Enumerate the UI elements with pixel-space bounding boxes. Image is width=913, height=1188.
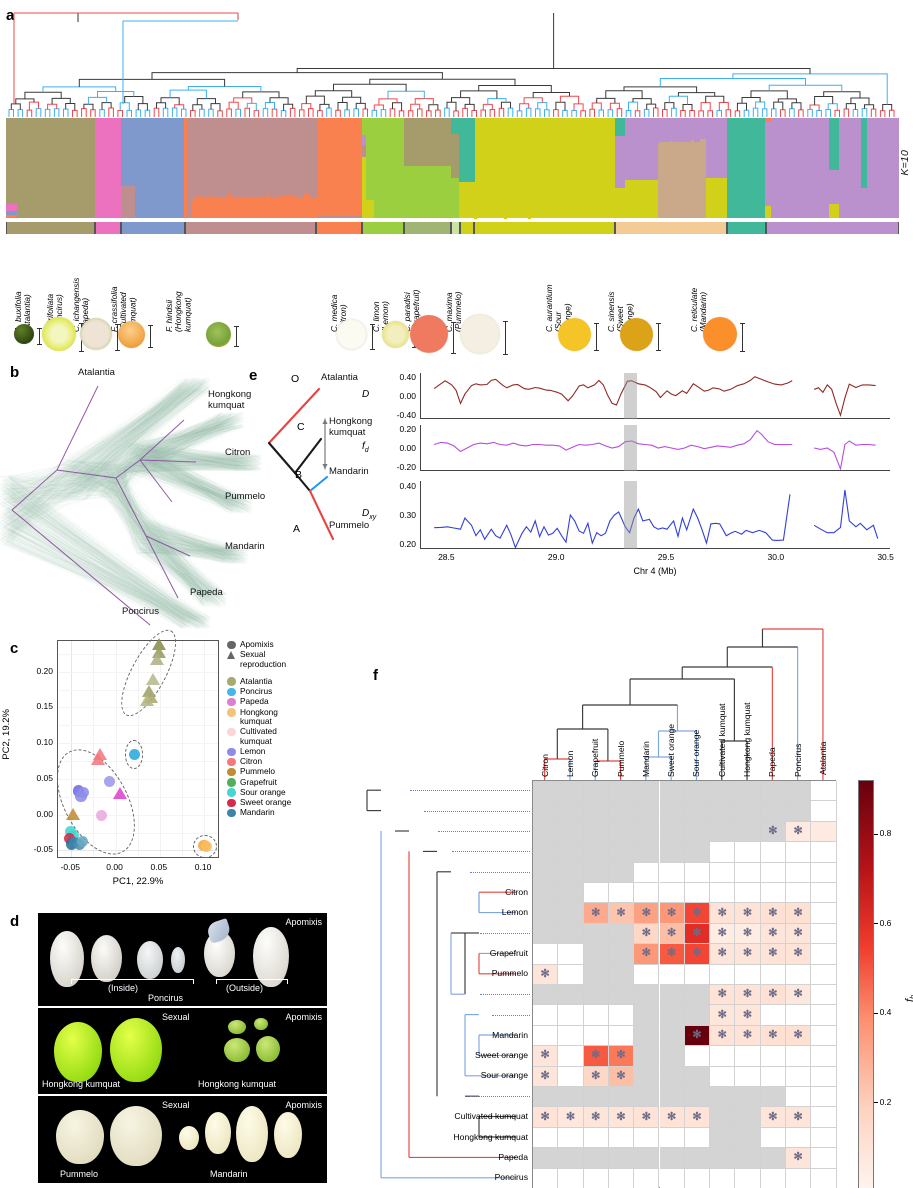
fruit-photo <box>410 315 448 353</box>
structure-segment <box>193 118 318 197</box>
heatmap-cell <box>660 883 685 903</box>
legend-label: Cultivated kumquat <box>240 727 277 746</box>
heatmap-cell <box>634 1046 659 1066</box>
c-gridline-v-minor <box>182 641 183 857</box>
heatmap-cell <box>761 801 786 821</box>
heatmap-cell <box>660 965 685 985</box>
structure-segment <box>121 118 135 186</box>
heatmap-cell <box>558 781 583 801</box>
heatmap-cell <box>761 883 786 903</box>
heatmap-cell-significant: ✻ <box>735 903 760 923</box>
heatmap-cell <box>710 781 735 801</box>
legend-row-color: Lemon <box>226 747 344 757</box>
heatmap-cell <box>710 801 735 821</box>
heatmap-cell <box>609 1169 634 1188</box>
heatmap-cell <box>533 842 558 862</box>
fruit-photo <box>620 318 653 351</box>
seed <box>171 947 185 973</box>
legend-circle-marker <box>227 748 236 757</box>
panel-c-xtick: 0.00 <box>99 862 131 872</box>
heatmap-cell <box>558 1067 583 1087</box>
heatmap-cell <box>710 1087 735 1107</box>
heatmap-cell <box>710 1148 735 1168</box>
panel-a: a K=10 A. buxifolia (Atalantia)P. trifol… <box>0 0 913 360</box>
heatmap-cell <box>634 1087 659 1107</box>
fruit-photo <box>558 318 591 351</box>
legend-circle-marker <box>227 708 236 717</box>
structure-segment <box>705 178 727 218</box>
heatmap-cell-significant: ✻ <box>786 1148 811 1168</box>
heatmap-cell <box>761 1005 786 1025</box>
panel-f-row-label: Mandarin <box>410 1030 528 1040</box>
scale-bar <box>150 325 151 348</box>
legend-swatch <box>226 677 237 686</box>
species-label: A. buxifolia (Atalantia) <box>14 244 32 332</box>
heatmap-cell <box>533 822 558 842</box>
heatmap-cell <box>786 842 811 862</box>
panel-e-xtick: 30.0 <box>764 552 788 562</box>
structure-noise <box>489 213 492 219</box>
population-band <box>185 222 316 234</box>
heatmap-cell <box>685 1067 710 1087</box>
heatmap-cell <box>558 883 583 903</box>
heatmap-cell-significant: ✻ <box>735 944 760 964</box>
pca-point-circle <box>77 836 88 847</box>
heatmap-cell <box>660 1169 685 1188</box>
heatmap-cell <box>710 842 735 862</box>
heatmap-cell <box>533 944 558 964</box>
heatmap-cell <box>558 944 583 964</box>
heatmap-cell <box>685 883 710 903</box>
heatmap-cell-significant: ✻ <box>533 1067 558 1087</box>
fruit-photo <box>80 318 112 350</box>
fruit-photo <box>703 317 737 351</box>
panel-f-colorbar-title: fb <box>904 970 913 1002</box>
panel-d-photo-box: SexualApomixisHongkong kumquatHongkong k… <box>38 1008 327 1094</box>
legend-label: Pummelo <box>240 767 275 777</box>
panel-f-row-label: Hongkong kumquat <box>410 1132 528 1142</box>
pca-point-circle <box>75 791 86 802</box>
row-connector <box>424 811 530 812</box>
heatmap-cell-significant: ✻ <box>634 944 659 964</box>
heatmap-cell <box>710 883 735 903</box>
heatmap-cell <box>685 781 710 801</box>
heatmap-cell <box>710 965 735 985</box>
legend-circle-marker <box>227 641 236 650</box>
fruit-photo <box>382 321 409 348</box>
heatmap-cell <box>811 965 836 985</box>
legend-label: Poncirus <box>240 687 272 697</box>
seed-cream <box>110 1106 162 1166</box>
heatmap-cell <box>558 822 583 842</box>
heatmap-cell-significant: ✻ <box>634 903 659 923</box>
heatmap-cell-significant: ✻ <box>735 1005 760 1025</box>
pca-point-circle <box>129 749 140 760</box>
heatmap-cell-significant: ✻ <box>685 903 710 923</box>
structure-segment <box>771 118 829 218</box>
heatmap-cell <box>558 863 583 883</box>
heatmap-cell <box>660 1005 685 1025</box>
panel-d-caption-inside: (Inside) <box>108 983 138 993</box>
panel-c-xtick: 0.05 <box>143 862 175 872</box>
heatmap-cell-significant: ✻ <box>761 944 786 964</box>
track-ytick: -0.40 <box>382 410 416 420</box>
heatmap-cell <box>634 863 659 883</box>
panel-e-tip-label: Pummelo <box>329 521 369 532</box>
heatmap-cell <box>761 863 786 883</box>
heatmap-cell <box>811 1087 836 1107</box>
heatmap-cell <box>584 944 609 964</box>
track-1 <box>420 425 890 471</box>
seed-green-small <box>256 1036 280 1062</box>
panel-f: f CitronLemonGrapefruitPummeloMandarinSw… <box>345 605 913 1188</box>
inside-brace <box>71 979 194 980</box>
structure-noise <box>573 216 576 218</box>
panel-c-xtick: -0.05 <box>54 862 86 872</box>
heatmap-cell-significant: ✻ <box>735 1026 760 1046</box>
track-ytick: 0.00 <box>382 391 416 401</box>
panel-f-heatmap: ✻✻✻✻✻✻✻✻✻✻✻✻✻✻✻✻✻✻✻✻✻✻✻✻✻✻✻✻✻✻✻✻✻✻✻✻✻✻✻✻… <box>532 780 836 1188</box>
panel-d-caption-mandarin: Mandarin <box>210 1169 248 1179</box>
panel-b-tip-label: Poncirus <box>122 607 159 618</box>
legend-row-shape: Apomixis <box>226 640 344 650</box>
track-2 <box>420 481 890 549</box>
pca-point-triangle <box>146 673 160 685</box>
highlight-band <box>624 425 637 471</box>
heatmap-cell <box>811 1169 836 1188</box>
scale-bar <box>596 323 597 351</box>
structure-column <box>404 118 451 218</box>
scale-bar <box>39 328 40 345</box>
legend-label: Mandarin <box>240 808 275 818</box>
figure-root: a K=10 A. buxifolia (Atalantia)P. trifol… <box>0 0 913 1188</box>
highlight-band <box>624 373 637 419</box>
legend-row-shape: Sexual reproduction <box>226 650 344 669</box>
seed-green <box>110 1018 162 1082</box>
fruit-photo <box>42 317 76 351</box>
heatmap-cell <box>735 1107 760 1127</box>
structure-column <box>135 118 184 218</box>
heatmap-cell <box>685 985 710 1005</box>
heatmap-cell <box>584 1087 609 1107</box>
heatmap-cell <box>533 883 558 903</box>
heatmap-cell <box>811 822 836 842</box>
legend-label: Citron <box>240 757 262 767</box>
panel-e-tip-label: Hongkong kumquat <box>329 417 372 438</box>
panel-c: c -0.050.000.050.10-0.050.000.050.100.15… <box>0 622 345 907</box>
heatmap-cell-significant: ✻ <box>660 944 685 964</box>
panel-f-row-label: Lemon <box>410 907 528 917</box>
structure-segment <box>374 118 404 218</box>
structure-segment <box>404 166 451 218</box>
panel-d-photo-box: Apomixis(Inside)(Outside)Poncirus <box>38 913 327 1006</box>
seed-cream-small <box>205 1112 231 1154</box>
population-band <box>95 222 121 234</box>
panel-e-xtick: 30.5 <box>874 552 898 562</box>
heatmap-cell <box>660 842 685 862</box>
heatmap-cell <box>685 1128 710 1148</box>
structure-segment <box>459 182 475 218</box>
structure-column <box>727 118 765 218</box>
structure-column <box>17 118 95 218</box>
legend-label: Lemon <box>240 747 265 757</box>
legend-row-color: Sweet orange <box>226 798 344 808</box>
legend-circle-marker <box>227 677 236 686</box>
heatmap-cell <box>735 842 760 862</box>
panel-c-ytick: 0.00 <box>23 809 53 819</box>
heatmap-cell-significant: ✻ <box>786 822 811 842</box>
pca-point-triangle <box>113 787 127 799</box>
track-ytick: 0.40 <box>382 372 416 382</box>
track-ylabel: D <box>362 389 369 400</box>
heatmap-cell <box>609 801 634 821</box>
structure-segment <box>6 118 17 204</box>
structure-segment <box>318 118 362 215</box>
structure-noise <box>597 215 600 218</box>
heatmap-cell <box>710 1169 735 1188</box>
heatmap-cell <box>786 883 811 903</box>
heatmap-cell <box>811 1128 836 1148</box>
heatmap-cell <box>761 1128 786 1148</box>
structure-noise <box>498 217 501 218</box>
legend-swatch <box>226 778 237 787</box>
heatmap-cell <box>609 1128 634 1148</box>
heatmap-cell <box>558 1087 583 1107</box>
heatmap-cell <box>533 1087 558 1107</box>
heatmap-cell <box>584 1169 609 1188</box>
colorbar-tick: 0.8 <box>880 828 892 838</box>
track-ytick: 0.30 <box>382 510 416 520</box>
structure-noise <box>555 212 558 218</box>
heatmap-cell <box>811 842 836 862</box>
panel-f-row-label: Poncirus <box>410 1172 528 1182</box>
row-connector <box>492 1015 530 1016</box>
panel-f-row-dendrogram <box>353 770 513 1188</box>
heatmap-cell <box>584 1148 609 1168</box>
heatmap-cell <box>811 1046 836 1066</box>
scale-bar <box>372 324 373 350</box>
heatmap-cell <box>786 1087 811 1107</box>
structure-segment <box>404 118 451 166</box>
heatmap-cell <box>710 863 735 883</box>
legend-row-color: Mandarin <box>226 808 344 818</box>
heatmap-cell <box>533 1169 558 1188</box>
heatmap-cell-significant: ✻ <box>761 1107 786 1127</box>
panel-e-xtick: 29.5 <box>654 552 678 562</box>
heatmap-cell <box>609 863 634 883</box>
heatmap-cell <box>811 1005 836 1025</box>
heatmap-cell <box>735 801 760 821</box>
structure-column <box>121 118 135 218</box>
legend-row-color: Citron <box>226 757 344 767</box>
population-band <box>727 222 766 234</box>
seed-green-small <box>224 1038 250 1062</box>
heatmap-cell <box>735 781 760 801</box>
heatmap-cell <box>811 985 836 1005</box>
heatmap-cell <box>533 985 558 1005</box>
species-label: C. limon (Lemon) <box>372 244 390 332</box>
heatmap-cell-significant: ✻ <box>634 924 659 944</box>
seed-cream <box>56 1110 104 1164</box>
row-connector <box>438 831 530 832</box>
heatmap-cell <box>710 1046 735 1066</box>
heatmap-cell-significant: ✻ <box>786 944 811 964</box>
fruit-photo <box>336 319 367 350</box>
structure-column <box>615 118 625 218</box>
heatmap-cell <box>609 1026 634 1046</box>
population-band <box>460 222 474 234</box>
heatmap-cell-significant: ✻ <box>609 1107 634 1127</box>
colorbar-tick: 0.2 <box>880 1097 892 1107</box>
panel-d-caption-hk-apomixis: Hongkong kumquat <box>198 1079 276 1089</box>
heatmap-cell-significant: ✻ <box>584 1046 609 1066</box>
heatmap-cell <box>811 863 836 883</box>
legend-row-color: Cultivated kumquat <box>226 727 344 746</box>
heatmap-cell <box>634 1148 659 1168</box>
structure-noise <box>528 218 531 219</box>
heatmap-cell-significant: ✻ <box>533 1107 558 1127</box>
pca-point-triangle <box>91 753 105 765</box>
heatmap-cell <box>811 944 836 964</box>
heatmap-cell-significant: ✻ <box>660 1107 685 1127</box>
heatmap-cell <box>634 965 659 985</box>
panel-d-photo-box: SexualApomixisPummeloMandarin <box>38 1096 327 1183</box>
structure-segment <box>829 204 839 218</box>
panel-f-column-label: Mandarin <box>641 713 651 777</box>
panel-f-row-label: Cultivated kumquat <box>410 1111 528 1121</box>
heatmap-cell <box>634 842 659 862</box>
heatmap-cell <box>660 1087 685 1107</box>
panel-f-row-label: Papeda <box>410 1152 528 1162</box>
heatmap-cell-significant: ✻ <box>710 985 735 1005</box>
species-label: F. hindsii (Hongkong kumquat) <box>165 244 193 332</box>
panel-e-node-label: B <box>295 469 302 481</box>
panel-e-node-label: A <box>293 523 300 535</box>
legend-swatch <box>226 808 237 817</box>
heatmap-cell <box>609 822 634 842</box>
seed-cream-small <box>236 1106 268 1162</box>
fruit-photo <box>118 321 145 348</box>
legend-label: Atalantia <box>240 677 272 687</box>
heatmap-cell <box>533 863 558 883</box>
panel-d-caption-poncirus: Poncirus <box>148 993 183 1003</box>
structure-noise <box>315 200 318 218</box>
panel-f-column-label: Poncirus <box>793 713 803 777</box>
heatmap-cell <box>786 1128 811 1148</box>
heatmap-cell <box>609 985 634 1005</box>
panel-d-caption-outside: (Outside) <box>226 983 263 993</box>
structure-segment <box>839 118 861 218</box>
panel-c-scatter-area <box>57 640 219 858</box>
seed-cream-small <box>274 1112 302 1158</box>
panel-c-xtitle: PC1, 22.9% <box>57 876 219 887</box>
row-connector <box>480 933 530 934</box>
structure-segment <box>659 118 705 142</box>
legend-circle-marker <box>227 728 236 737</box>
heatmap-cell <box>735 883 760 903</box>
structure-segment <box>95 118 121 218</box>
legend-circle-marker <box>227 799 236 808</box>
structure-noise <box>522 215 525 218</box>
track-ytick: 0.40 <box>382 481 416 491</box>
structure-segment <box>615 188 625 218</box>
structure-column <box>839 118 861 218</box>
panel-d-caption-sexual: Sexual <box>162 1012 190 1022</box>
heatmap-cell <box>786 1169 811 1188</box>
heatmap-cell <box>710 1067 735 1087</box>
row-connector <box>452 851 530 852</box>
heatmap-cell <box>584 842 609 862</box>
structure-noise <box>537 217 540 218</box>
population-band <box>766 222 899 234</box>
heatmap-cell <box>685 1005 710 1025</box>
heatmap-cell <box>558 1128 583 1148</box>
heatmap-cell-significant: ✻ <box>685 1107 710 1127</box>
population-band <box>615 222 727 234</box>
legend-label: Sweet orange <box>240 798 291 808</box>
heatmap-cell <box>584 1128 609 1148</box>
colorbar-tickmark <box>874 923 878 924</box>
panel-f-letter: f <box>373 667 378 684</box>
heatmap-cell <box>558 1026 583 1046</box>
heatmap-cell <box>786 965 811 985</box>
panel-a-structure-plot <box>6 118 899 218</box>
panel-f-row-label: Sweet orange <box>410 1050 528 1060</box>
panel-c-ytick: -0.05 <box>23 844 53 854</box>
structure-segment <box>17 118 95 218</box>
legend-row-color: Pummelo <box>226 767 344 777</box>
heatmap-cell <box>660 1067 685 1087</box>
species-label: C. reticulate (Mandarin) <box>690 244 708 332</box>
outside-brace <box>216 979 288 980</box>
track-ytick: 0.20 <box>382 539 416 549</box>
heatmap-cell <box>786 863 811 883</box>
panel-e-xtick: 29.0 <box>544 552 568 562</box>
heatmap-cell <box>558 1148 583 1168</box>
heatmap-cell <box>634 781 659 801</box>
heatmap-cell-significant: ✻ <box>660 924 685 944</box>
heatmap-cell <box>761 842 786 862</box>
legend-swatch <box>226 747 237 756</box>
heatmap-cell <box>761 965 786 985</box>
heatmap-cell <box>558 1169 583 1188</box>
panel-d-caption-apomixis: Apomixis <box>285 1100 322 1110</box>
heatmap-cell <box>735 822 760 842</box>
scale-bar <box>236 326 237 347</box>
heatmap-cell <box>761 1046 786 1066</box>
c-gridline-v-minor <box>204 641 205 857</box>
structure-column <box>95 118 121 218</box>
track-line-1 <box>421 425 891 471</box>
panel-c-xtick: 0.10 <box>187 862 219 872</box>
heatmap-cell <box>685 1148 710 1168</box>
legend-swatch <box>226 757 237 766</box>
panel-c-legend: ApomixisSexual reproductionAtalantiaPonc… <box>226 640 344 818</box>
heatmap-cell <box>710 1128 735 1148</box>
heatmap-cell <box>685 801 710 821</box>
heatmap-cell-significant: ✻ <box>584 903 609 923</box>
panel-d-caption-sexual: Sexual <box>162 1100 190 1110</box>
heatmap-cell-significant: ✻ <box>786 924 811 944</box>
heatmap-cell <box>660 801 685 821</box>
legend-label: Hongkong kumquat <box>240 708 278 727</box>
legend-label: Grapefruit <box>240 778 277 788</box>
scale-bar <box>453 322 454 354</box>
legend-label: Papeda <box>240 697 269 707</box>
heatmap-cell-significant: ✻ <box>710 924 735 944</box>
track-line-2 <box>421 481 891 549</box>
legend-swatch <box>226 650 237 659</box>
